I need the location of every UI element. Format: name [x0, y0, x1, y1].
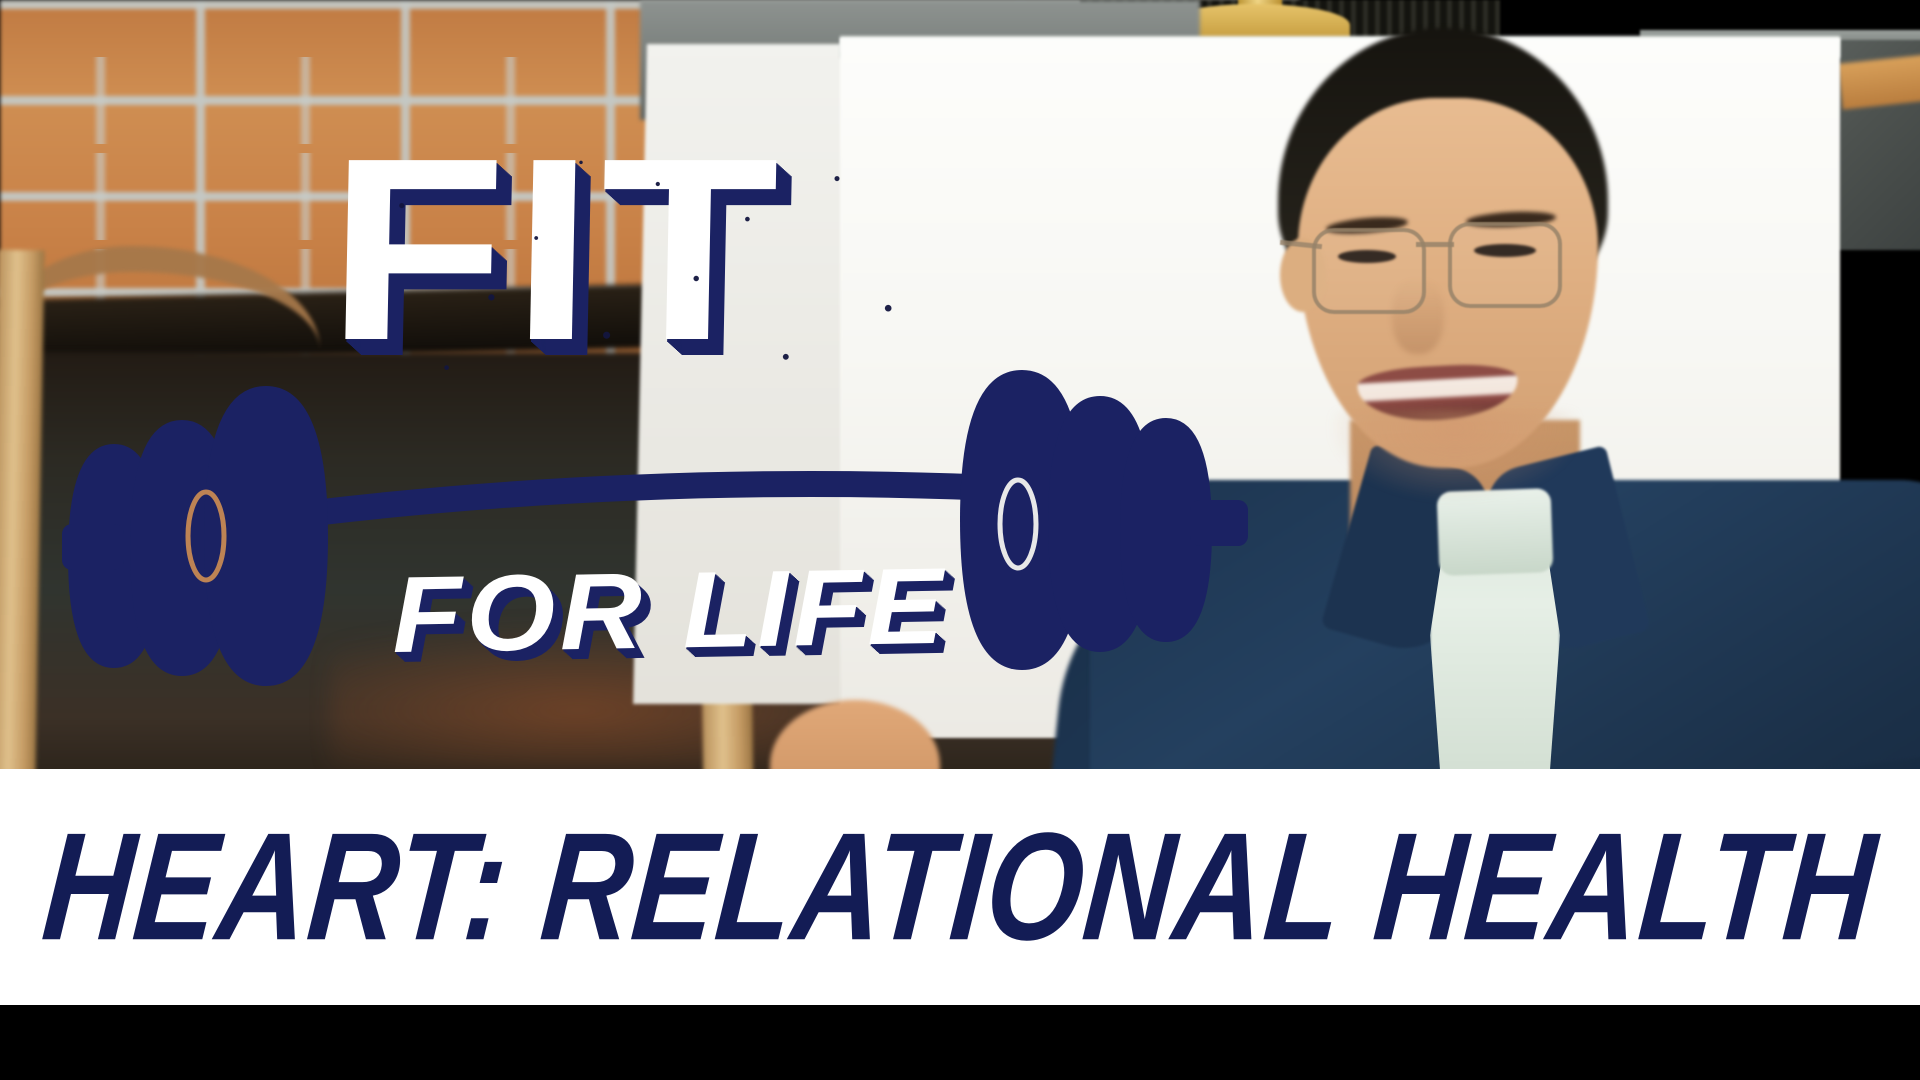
- presenter-glasses-lens-left: [1312, 228, 1426, 314]
- presenter-tie-knot: [1437, 488, 1554, 576]
- video-thumbnail: FIT FOR LIFE HEART: RELATIONAL HEALTH: [0, 0, 1920, 1080]
- presenter-glasses-lens-right: [1448, 222, 1562, 308]
- title-banner: HEART: RELATIONAL HEALTH: [0, 769, 1920, 1005]
- presenter-glasses-bridge: [1416, 242, 1454, 247]
- presenter-chin: [1330, 410, 1580, 500]
- white-counter-side: [633, 44, 857, 704]
- bottom-strip: [0, 1005, 1920, 1080]
- episode-title: HEART: RELATIONAL HEALTH: [38, 810, 1882, 963]
